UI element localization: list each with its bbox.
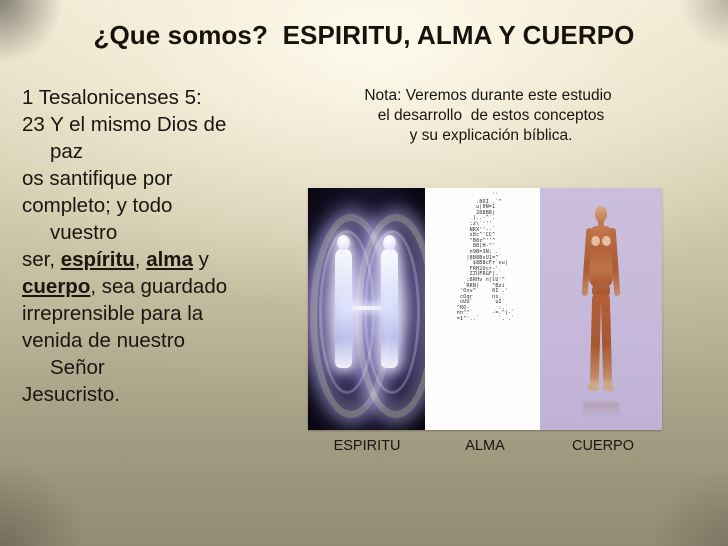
verse-line: completo; y todo: [22, 192, 300, 219]
anatomy-chest-left: [591, 236, 600, 246]
verse-line: venida de nuestro: [22, 327, 300, 354]
verse-line: 23 Y el mismo Dios de: [22, 111, 300, 138]
verse-text: , sea guardado: [90, 275, 227, 298]
slide: ¿Que somos? ESPIRITU, ALMA Y CUERPO 1 Te…: [0, 0, 728, 546]
verse-text: ,: [135, 248, 146, 271]
note-line: y su explicación bíblica.: [308, 126, 668, 146]
verse-line-emphasis: ser, espíritu, alma y: [22, 246, 300, 273]
spirit-head-right: [383, 235, 396, 250]
verse-line: Señor: [22, 354, 300, 381]
scripture-text-block: 1 Tesalonicenses 5: 23 Y el mismo Dios d…: [22, 84, 300, 408]
note-line: Nota: Veremos durante este estudio: [308, 86, 668, 106]
verse-line: vuestro: [22, 219, 300, 246]
note-line: el desarrollo de estos conceptos: [308, 106, 668, 126]
anatomy-figure: [579, 206, 623, 402]
anatomy-foot-right: [603, 384, 614, 391]
spirit-image: [308, 188, 425, 430]
caption-alma: ALMA: [426, 438, 544, 454]
anatomy-leg-right: [601, 294, 612, 386]
emphasis-espiritu: espíritu: [61, 248, 135, 271]
image-captions: ESPIRITU ALMA CUERPO: [308, 438, 662, 454]
anatomy-reflection: [583, 402, 619, 418]
caption-espiritu: ESPIRITU: [308, 438, 426, 454]
body-image: [540, 188, 662, 430]
page-title: ¿Que somos? ESPIRITU, ALMA Y CUERPO: [0, 20, 728, 51]
verse-line: paz: [22, 138, 300, 165]
verse-line: 1 Tesalonicenses 5:: [22, 84, 300, 111]
caption-cuerpo: CUERPO: [544, 438, 662, 454]
soul-image: `` .8OI .`^ u|0N=1 288BR| |..-^`. ;z\`''…: [425, 188, 540, 430]
verse-line: os santifique por: [22, 165, 300, 192]
spirit-figure-right: [381, 248, 398, 368]
anatomy-foot-left: [588, 384, 599, 391]
emphasis-alma: alma: [146, 248, 193, 271]
emphasis-cuerpo: cuerpo: [22, 275, 90, 298]
verse-line: Jesucristo.: [22, 381, 300, 408]
verse-line-emphasis: cuerpo, sea guardado: [22, 273, 300, 300]
note-text-block: Nota: Veremos durante este estudio el de…: [308, 86, 668, 146]
anatomy-arm-right: [610, 228, 621, 296]
verse-text: ser,: [22, 248, 61, 271]
spirit-head-left: [337, 235, 350, 250]
triptych-image: `` .8OI .`^ u|0N=1 288BR| |..-^`. ;z\`''…: [308, 188, 662, 430]
anatomy-leg-left: [590, 294, 601, 386]
ascii-art-figure: `` .8OI .`^ u|0N=1 288BR| |..-^`. ;z\`''…: [450, 194, 514, 323]
spirit-figure-left: [335, 248, 352, 368]
verse-line: irreprensible para la: [22, 300, 300, 327]
verse-text: y: [193, 248, 209, 271]
